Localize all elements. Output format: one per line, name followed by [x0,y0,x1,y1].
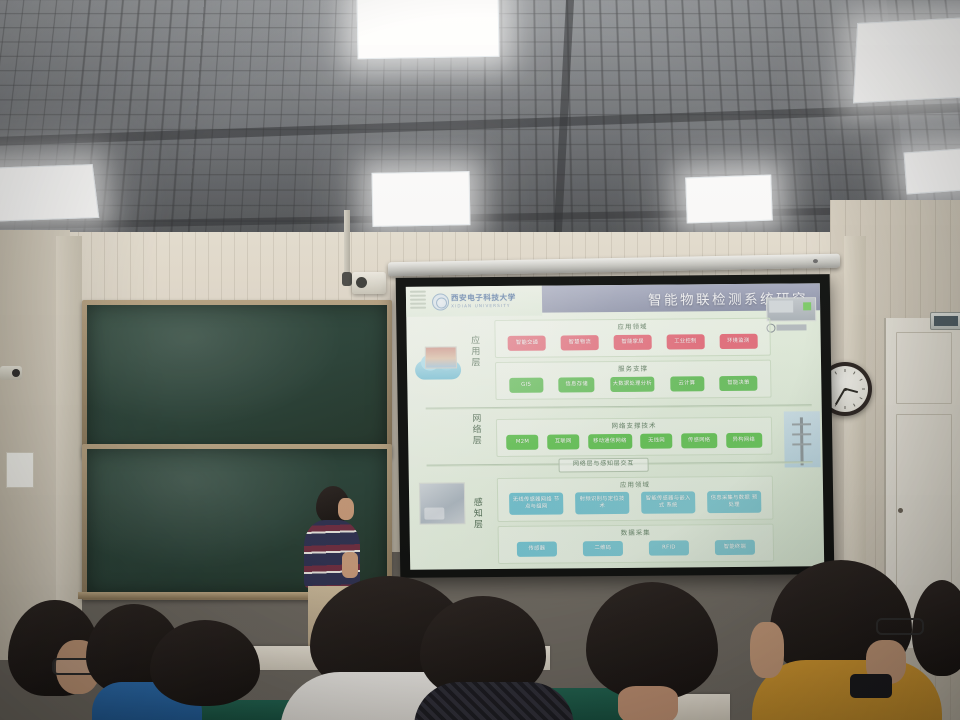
audience-member [420,596,570,720]
door-panel [896,332,952,404]
projector-mount [344,210,350,280]
audience-member [150,620,280,720]
chip[interactable]: 二维码 [583,540,623,555]
chalkboard-upper-frame [82,300,392,458]
door-knob[interactable] [898,508,903,513]
chip[interactable]: 云计算 [670,376,704,391]
audience-member [912,580,960,720]
audience-head [150,620,260,706]
glasses-icon [876,618,924,635]
layer-label-perception: 感知层 [471,498,486,531]
chip[interactable]: 无线网 [640,433,672,448]
lecture-hall-photo: 西安电子科技大学 XIDIAN UNIVERSITY 智能物联检测系统研究 [0,0,960,720]
layer-divider [426,404,812,409]
ceiling-light-panel [685,175,773,224]
audience-hand [750,622,784,678]
decor-bars-icon [410,291,426,311]
chip[interactable]: 互联网 [547,434,579,449]
chip[interactable]: GIS [509,377,543,392]
presenter-face [338,498,354,520]
chip[interactable]: 智能终端 [715,539,755,554]
ceiling-light-panel [904,148,960,195]
chip[interactable]: 传感器 [517,541,557,556]
chip[interactable]: 异构网络 [726,432,762,447]
magnifier-icon [766,323,810,332]
layer-label-network: 网络层 [470,414,485,447]
chip[interactable]: 移动通信网络 [588,433,632,448]
chip-row: 传感器 二维码 RFID 智能终端 [499,537,773,559]
chip[interactable]: 大数据处理分析 [610,376,654,391]
ceiling-light-panel [356,0,499,59]
chip[interactable]: 环境监测 [719,333,757,348]
group-app-domains: 应用领域 智能交通 智慧物流 智能家居 工业控制 环境监测 [494,318,771,358]
chip[interactable]: 无线传感器网络 节点与组网 [509,492,563,514]
group-data-collection: 数据采集 传感器 二维码 RFID 智能终端 [498,524,775,564]
chip[interactable]: 工业控制 [666,334,704,349]
chip[interactable]: 智能传感器与嵌入式 系统 [641,491,695,513]
chip[interactable]: RFID [649,540,689,555]
chip-row: 无线传感器网络 节点与组网 射频识别与定位技术 智能传感器与嵌入式 系统 信息采… [498,489,772,517]
monitor-photo [766,297,816,321]
case-indicator-icon [813,259,818,263]
ceiling-light-panel [853,17,960,104]
chip[interactable]: 智能交通 [508,335,546,350]
audience-shirt [414,682,574,720]
university-name-cn: 西安电子科技大学 [451,292,516,304]
chip[interactable]: 智能决策 [719,375,757,390]
digital-sign [930,312,960,330]
tower-photo [784,411,821,467]
cloud-icon [415,346,462,392]
sensor-photo [419,482,466,524]
chip[interactable]: 智慧物流 [561,335,599,350]
presenter-hand [342,552,358,578]
chip-row: GIS 信息存储 大数据处理分析 云计算 智能决策 [496,373,770,395]
projection-screen: 西安电子科技大学 XIDIAN UNIVERSITY 智能物联检测系统研究 [396,274,835,578]
chip[interactable]: M2M [506,434,538,449]
chip[interactable]: 射频识别与定位技术 [575,492,629,514]
chalkboard-upper [87,305,387,453]
clock-minute-hand [835,389,846,405]
group-network-tech: 网络支撑技术 M2M 互联网 移动通信网络 无线网 传感网络 异构网络 [496,417,773,457]
ceiling-light-panel [0,164,99,222]
audience-neck [618,686,678,720]
slide-header: 西安电子科技大学 XIDIAN UNIVERSITY 智能物联检测系统研究 [406,283,820,317]
ceiling-light-panel [372,171,471,227]
university-name-en: XIDIAN UNIVERSITY [451,303,511,309]
security-camera-icon [0,366,22,380]
clock-hour-hand [845,388,858,394]
audience-member [756,560,926,720]
chip[interactable]: 信息采集与数据 预处理 [707,491,761,513]
projector [352,272,386,294]
chip-row: M2M 互联网 移动通信网络 无线网 传感网络 异构网络 [497,430,771,452]
university-logo-icon [432,293,449,310]
chip-row: 智能交通 智慧物流 智能家居 工业控制 环境监测 [496,331,770,353]
chip[interactable]: 传感网络 [681,433,717,448]
audience-head [586,582,718,700]
presentation-slide: 西安电子科技大学 XIDIAN UNIVERSITY 智能物联检测系统研究 [406,283,824,570]
audience-member [576,582,736,720]
layer-label-application: 应用层 [469,336,484,369]
chip[interactable]: 信息存储 [559,377,595,392]
group-service-support: 服务支撑 GIS 信息存储 大数据处理分析 云计算 智能决策 [495,360,772,400]
chip[interactable]: 智能家居 [614,334,652,349]
bridge-label: 网络层与感知层交互 [559,458,649,473]
wall-notice [6,452,34,488]
group-perception-domains: 应用领域 无线传感器网络 节点与组网 射频识别与定位技术 智能传感器与嵌入式 系… [497,476,774,522]
wristwatch-icon [850,674,892,698]
